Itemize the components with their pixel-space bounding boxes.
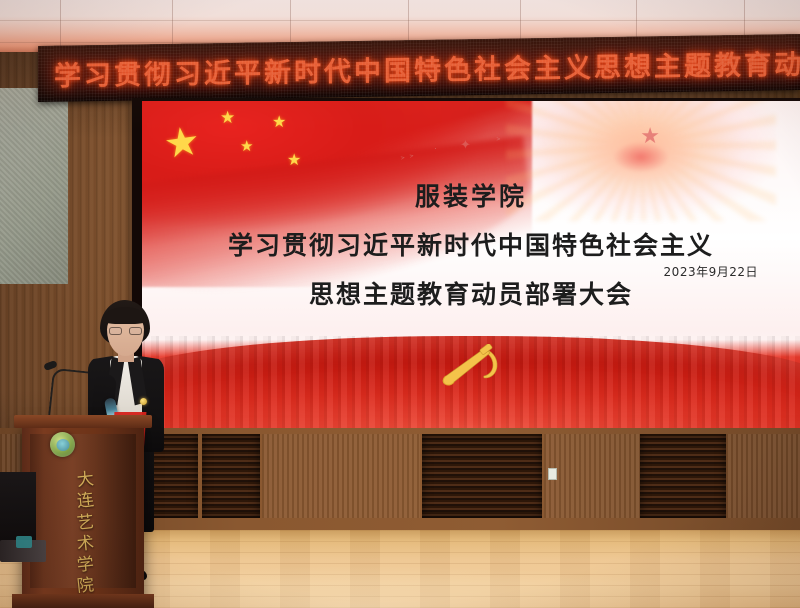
ventilation-grille: [202, 434, 260, 518]
conference-photo-scene: 学习贯彻习近平新时代中国特色社会主义思想主题教育动员部署大会 ★ ★ ★ ★ ★…: [0, 0, 800, 608]
cpc-hammer-sickle-emblem: [430, 344, 512, 390]
screen-title-line-2: 思想主题教育动员部署大会: [142, 275, 800, 311]
university-crest-emblem: [50, 432, 75, 457]
screen-title-line-1: 学习贯彻习近平新时代中国特色社会主义: [142, 226, 800, 262]
wood-panel: [544, 434, 640, 518]
screen-organization: 服装学院: [142, 177, 800, 213]
podium-institution-text: 大 连 艺 术 学 院: [66, 470, 106, 598]
screen-title-block: 服装学院 学习贯彻习近平新时代中国特色社会主义 思想主题教育动员部署大会: [142, 177, 800, 311]
wood-panel: [726, 434, 800, 518]
led-scrolling-banner: 学习贯彻习近平新时代中国特色社会主义思想主题教育动员部署大会: [38, 34, 800, 102]
flag-star-icon: ★: [220, 109, 235, 126]
birds-silhouette-icon: ·: [434, 143, 437, 153]
screen-date: 2023年9月22日: [664, 263, 758, 280]
led-screen-frame: ★ ★ ★ ★ ★ ★ ﹥﹥ · ✦ ﹥ 服装学院 学习贯彻习近平新时代中国特色…: [132, 98, 800, 428]
wall-outlet-plate: [548, 468, 557, 480]
ventilation-grille: [640, 434, 726, 518]
flag-star-icon: ★: [240, 139, 253, 154]
flag-star-icon: ★: [161, 121, 202, 166]
ventilation-grille: [422, 434, 542, 518]
glasses-icon: [109, 327, 142, 335]
wood-panel: [262, 434, 420, 518]
flag-star-icon: ★: [272, 115, 286, 131]
birds-silhouette-icon: ﹥: [494, 131, 503, 144]
halo-star-icon: ★: [640, 123, 660, 149]
led-screen: ★ ★ ★ ★ ★ ★ ﹥﹥ · ✦ ﹥ 服装学院 学习贯彻习近平新时代中国特色…: [142, 101, 800, 428]
flag-star-icon: ★: [287, 153, 301, 169]
birds-silhouette-icon: ✦: [460, 137, 471, 153]
stage-equipment: [0, 472, 36, 546]
acoustic-panel: [0, 88, 68, 284]
lapel-pin-badge: [140, 398, 147, 405]
podium: 大 连 艺 术 学 院: [22, 424, 144, 608]
stage-equipment-accessory: [16, 536, 32, 548]
